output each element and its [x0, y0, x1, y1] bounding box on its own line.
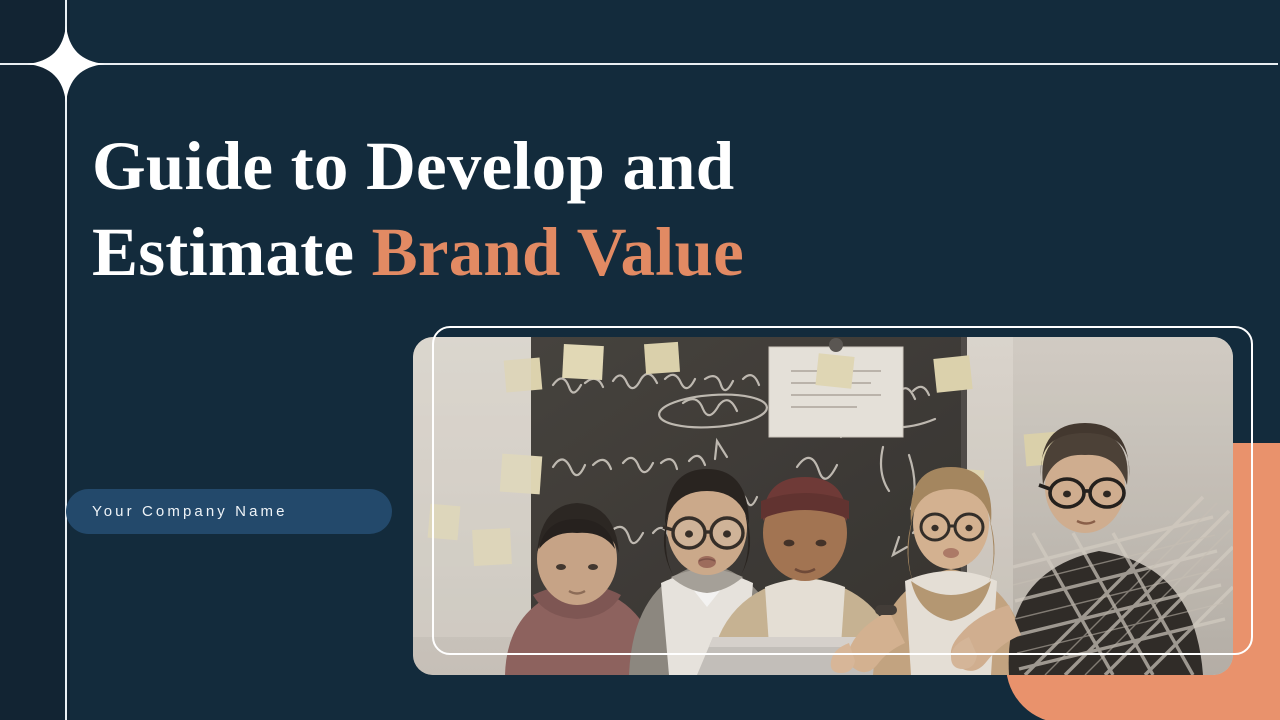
page-title: Guide to Develop and Estimate Brand Valu…	[92, 123, 992, 295]
photo-outline-frame	[432, 326, 1253, 655]
headline-line-1: Guide to Develop and	[92, 128, 734, 204]
headline-line-2-white: Estimate	[92, 214, 372, 290]
four-point-star-icon	[27, 25, 105, 103]
company-name-label: Your Company Name	[66, 503, 288, 520]
horizontal-guide-line	[0, 63, 1278, 65]
company-name-badge[interactable]: Your Company Name	[66, 489, 392, 534]
vertical-guide-line	[65, 0, 67, 720]
headline-line-2-accent: Brand Value	[372, 214, 744, 290]
presentation-slide: Guide to Develop and Estimate Brand Valu…	[0, 0, 1280, 720]
